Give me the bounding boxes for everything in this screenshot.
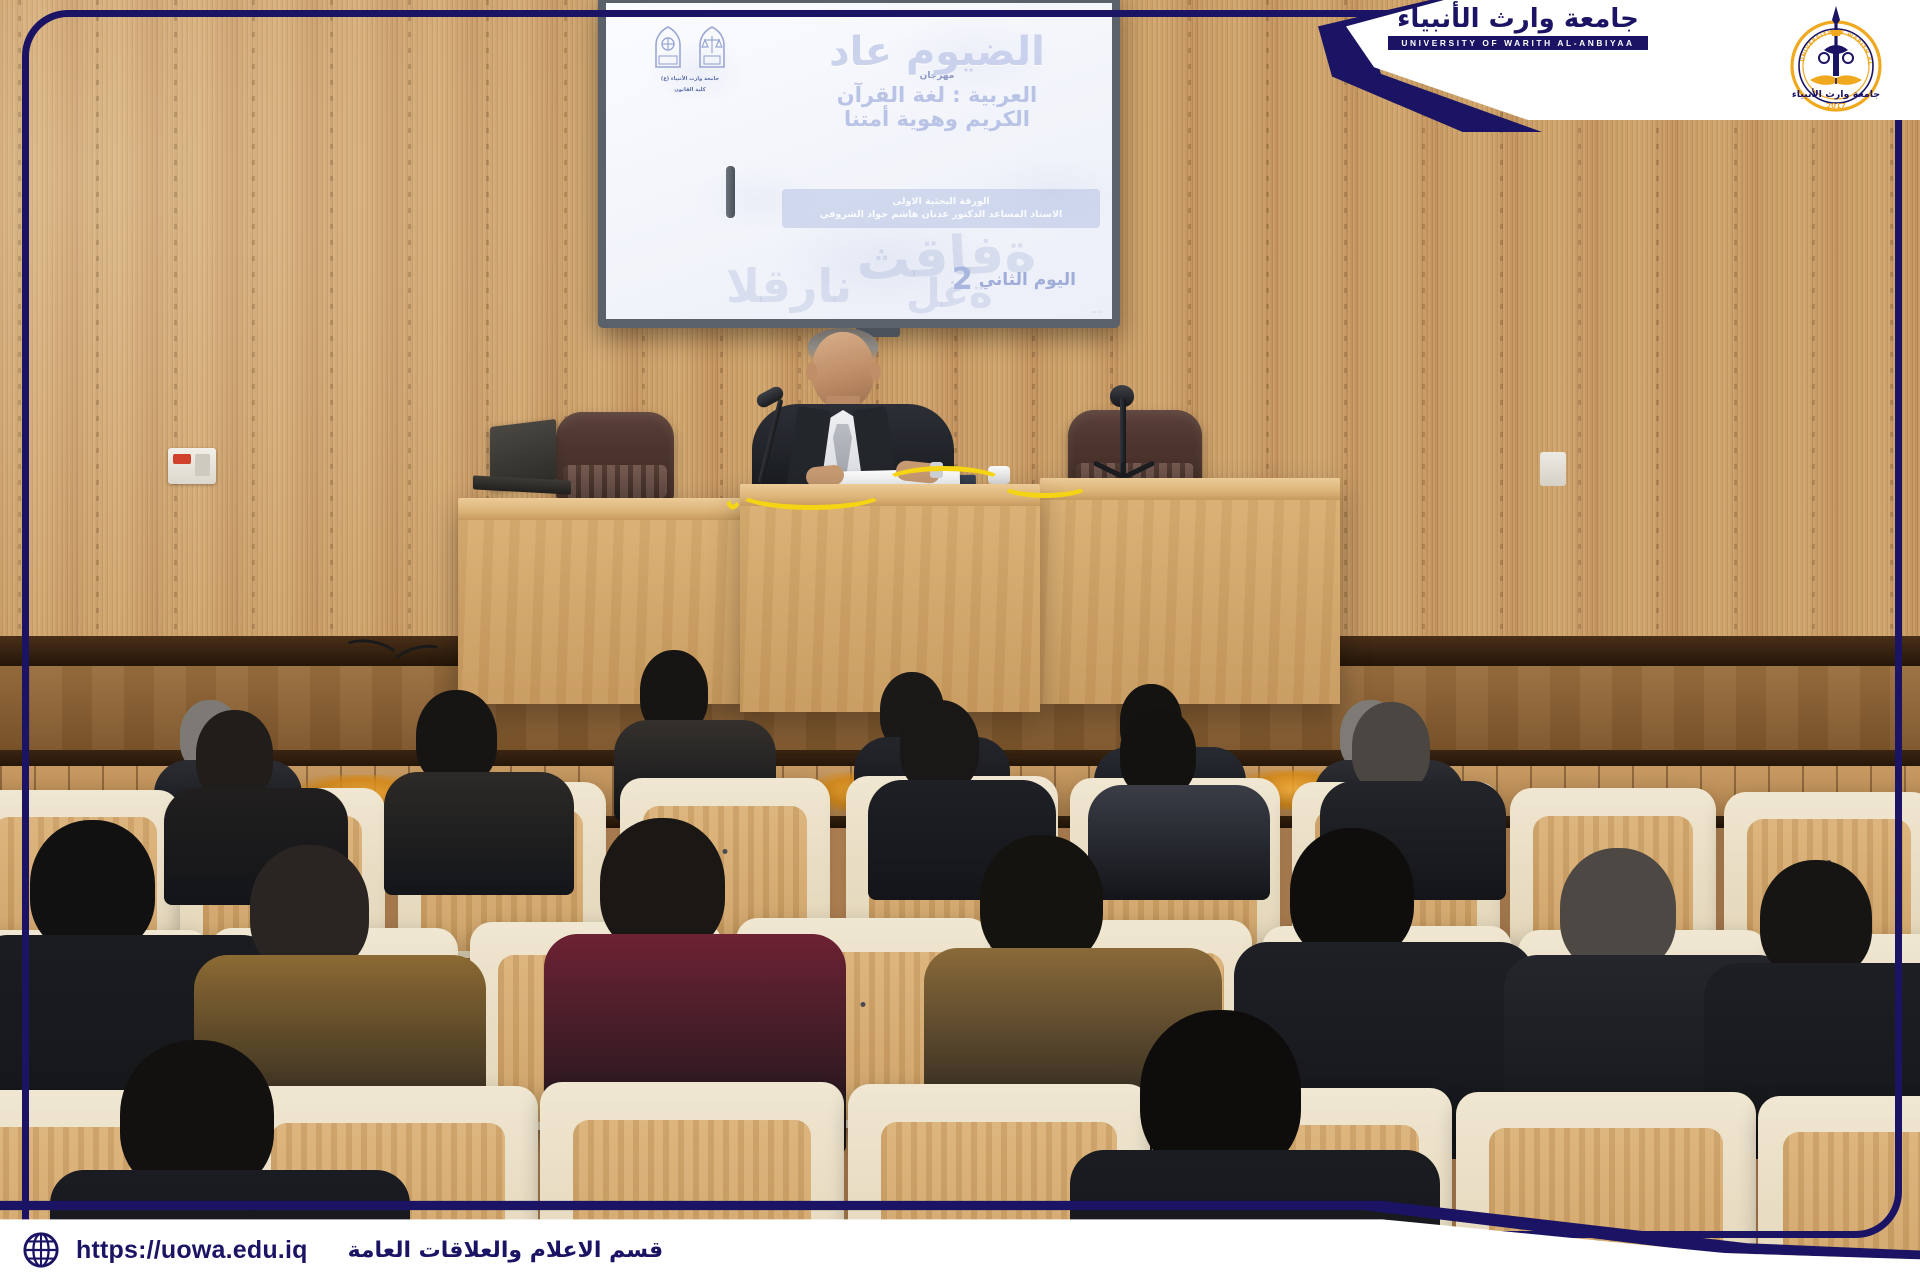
slide-college-line-2: كلية القانون (630, 87, 750, 95)
slide-band-line-1: الورقة البحثية الاولى (792, 196, 1090, 207)
slide-day-number: 2 (952, 262, 973, 297)
audience-body (384, 772, 574, 895)
audience-head (980, 835, 1103, 966)
screenshot-canvas: ةفاقث نارقلا ةغل (0, 0, 1920, 1280)
yellow-cable (884, 466, 1004, 498)
slide-headline-block: الضيوم عاد مهرجان العربية : لغة القرآن ا… (772, 33, 1102, 131)
slide-day-marker: اليوم الثاني 2 (952, 262, 1076, 297)
wall-seam (96, 0, 99, 700)
wall-seam (1344, 0, 1347, 700)
audience-head (30, 820, 155, 953)
yellow-cable (1000, 472, 1090, 498)
audience-head (900, 700, 979, 792)
law-college-crest-icon (693, 25, 731, 73)
wall-seam (18, 0, 21, 700)
university-crest-icon (649, 25, 687, 73)
wall-seam (408, 0, 411, 700)
yellow-cable (736, 474, 886, 510)
presidium-desk-center (740, 484, 1040, 712)
slide-surface: ةفاقث نارقلا ةغل (606, 3, 1112, 319)
audience-head (1560, 848, 1676, 972)
audience-head (1760, 860, 1872, 979)
presidium-desk-right (1040, 478, 1340, 704)
projector-screen: ةفاقث نارقلا ةغل (598, 0, 1120, 328)
audience-head (600, 818, 725, 953)
globe-icon (22, 1231, 60, 1269)
frame-line-left (22, 68, 29, 1228)
screen-stylus (726, 166, 735, 218)
wall-socket-left (168, 448, 216, 484)
frame-line-right (1895, 96, 1902, 1180)
seal-arabic-text: جامعة وارث الأنبياء (1792, 88, 1880, 100)
presidium-chair-left (556, 412, 674, 504)
audience-head (1352, 702, 1430, 793)
audience-head (1290, 828, 1414, 960)
slide-title-line-1: العربية : لغة القرآن (772, 83, 1102, 107)
seat-stud (722, 849, 727, 854)
audience-head (196, 710, 273, 800)
wall-seam (174, 0, 177, 700)
wall-seam (252, 0, 255, 700)
speaker-ear-right (870, 362, 881, 381)
wall-socket-right (1540, 452, 1566, 486)
slide-college-line-1: جامعة وارث الأنبياء (ع) (630, 76, 750, 84)
slide-college-crests: جامعة وارث الأنبياء (ع) كلية القانون (630, 25, 750, 95)
website-url[interactable]: https://uowa.edu.iq (76, 1236, 308, 1265)
slide-day-label: اليوم الثاني (979, 270, 1076, 290)
slide-band-line-2: الاستاذ المساعد الدكتور عدنان هاشم جواد … (792, 209, 1090, 220)
audience-head (416, 690, 497, 785)
audience-body (1088, 785, 1270, 900)
slide-footer-mark: •••• (1092, 309, 1102, 314)
slide-title-line-2: الكريم وهوية أمتنا (772, 107, 1102, 131)
footer-content: https://uowa.edu.iq قسم الاعلام والعلاقا… (0, 1220, 700, 1280)
department-label: قسم الاعلام والعلاقات العامة (348, 1238, 664, 1263)
frame-line-top (80, 10, 1458, 17)
seat-stud (860, 1002, 865, 1007)
audience-head (1120, 708, 1196, 797)
university-logo: جامعة وارث الأنبياء UNIVERSITY OF WARITH… (1388, 6, 1648, 50)
speaker-ear-left (806, 362, 817, 381)
university-seal: UNIVERSITY OF WARITH AL-ANBIYAA جامعة وا… (1780, 4, 1892, 116)
slide-ghost-word: الضيوم عاد (772, 33, 1102, 71)
wall-seam (330, 0, 333, 700)
audience-head (250, 845, 369, 973)
slide-paper-band: الورقة البحثية الاولى الاستاذ المساعد ال… (782, 189, 1100, 228)
seal-year: 2017 (1826, 102, 1846, 110)
university-logo-arabic: جامعة وارث الأنبياء (1388, 6, 1648, 32)
university-logo-english: UNIVERSITY OF WARITH AL-ANBIYAA (1388, 36, 1648, 50)
